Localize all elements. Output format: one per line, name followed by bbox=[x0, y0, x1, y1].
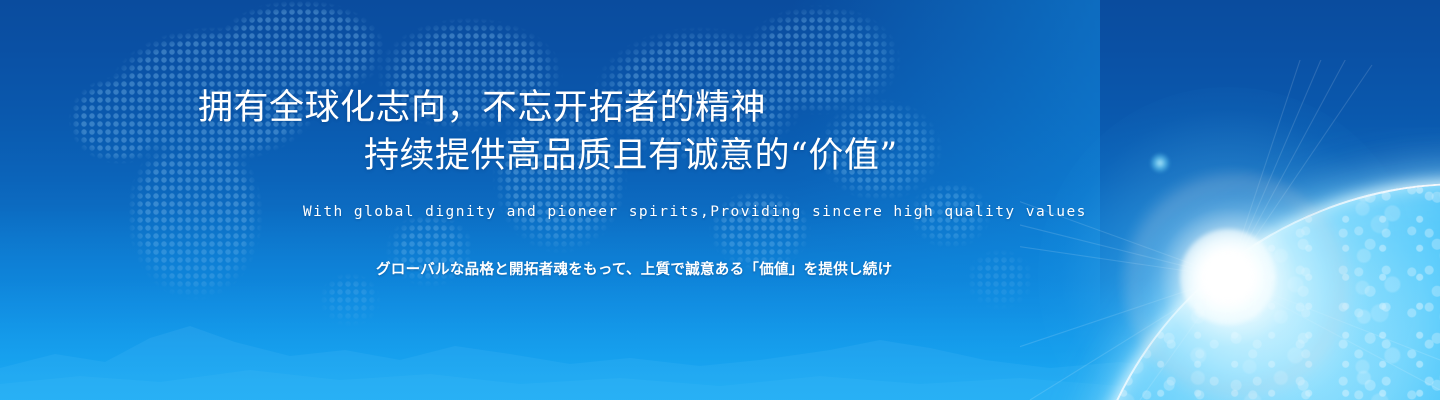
planet-graphic bbox=[1020, 0, 1440, 400]
planet-cloud-texture bbox=[1080, 185, 1440, 400]
world-map-dot-pattern bbox=[0, 0, 1040, 330]
planet-ring-arcs bbox=[1080, 185, 1440, 400]
lens-flare-dot-icon bbox=[1150, 153, 1170, 173]
hero-banner: 拥有全球化志向，不忘开拓者的精神 持续提供高品质且有诚意的“价值” With g… bbox=[0, 0, 1440, 400]
sun-halo-ring bbox=[1128, 177, 1346, 395]
planet-atmosphere-limb bbox=[1078, 183, 1440, 400]
planet-body bbox=[1080, 185, 1440, 400]
sun-rays-icon bbox=[1020, 60, 1440, 400]
